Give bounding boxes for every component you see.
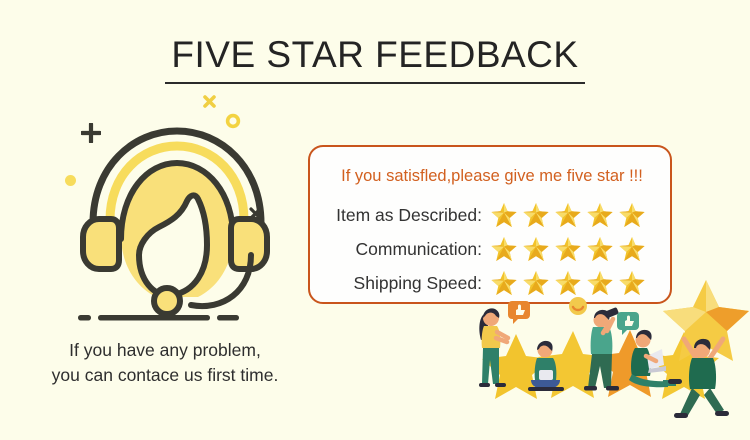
feedback-banner: FIVE STAR FEEDBACK (0, 0, 750, 440)
rating-label: Item as Described: (310, 205, 489, 226)
plus-sparkle-icon (81, 123, 101, 148)
support-caption: If you have any problem, you can contace… (0, 338, 330, 388)
dot-sparkle-icon (64, 174, 77, 192)
people-with-five-stars-illustration (470, 276, 750, 440)
star-icon (521, 234, 551, 264)
rating-label: Communication: (310, 239, 489, 260)
rating-row-item-as-described: Item as Described: (310, 198, 674, 232)
title-container: FIVE STAR FEEDBACK (0, 36, 750, 84)
card-headline: If you satisfled,please give me five sta… (310, 167, 674, 186)
star-icon (489, 200, 519, 230)
star-rating-communication (489, 234, 647, 264)
star-icon (521, 200, 551, 230)
ring-sparkle-icon (225, 113, 241, 134)
x-sparkle-dark-icon (248, 206, 263, 226)
rating-row-communication: Communication: (310, 232, 674, 266)
star-rating-item-as-described (489, 200, 647, 230)
star-icon (585, 234, 615, 264)
rating-label: Shipping Speed: (310, 273, 489, 294)
thumbs-up-badge-teal (617, 312, 639, 335)
star-icon (617, 234, 647, 264)
smiley-face-badge (569, 297, 587, 315)
star-icon (585, 200, 615, 230)
star-icon (553, 200, 583, 230)
page-title: FIVE STAR FEEDBACK (165, 36, 584, 84)
star-icon (489, 234, 519, 264)
dashed-ground-line (78, 308, 243, 315)
star-icon (553, 234, 583, 264)
star-icon (617, 200, 647, 230)
support-caption-line-2: you can contace us first time. (0, 363, 330, 388)
x-sparkle-icon (202, 94, 217, 114)
support-caption-line-1: If you have any problem, (0, 338, 330, 363)
thumbs-up-badge-orange (508, 301, 530, 324)
